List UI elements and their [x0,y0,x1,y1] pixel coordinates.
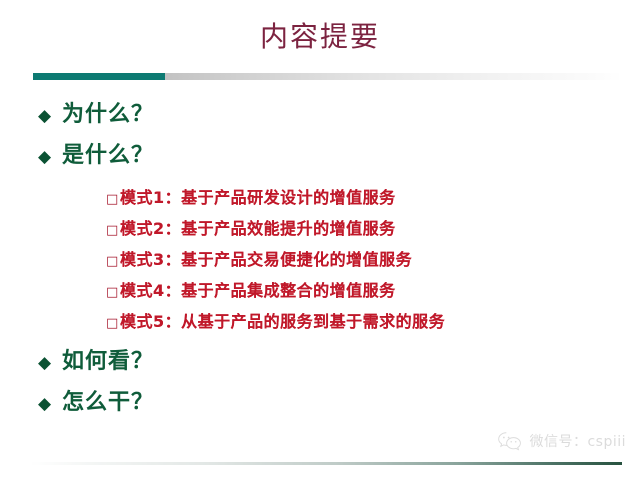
page-title: 内容提要 [0,22,640,53]
diamond-bullet-icon: ◆ [38,149,62,166]
outline-subitem-label: 模式1：基于产品研发设计的增值服务 [120,184,396,208]
outline-subitem[interactable]: □ 模式5：从基于产品的服务到基于需求的服务 [0,308,640,339]
outline-subitem[interactable]: □ 模式1：基于产品研发设计的增值服务 [0,184,640,215]
outline-item-label: 是什么？ [62,137,154,169]
outline-subitem[interactable]: □ 模式3：基于产品交易便捷化的增值服务 [0,246,640,277]
outline-subitem-label: 模式4：基于产品集成整合的增值服务 [120,277,396,301]
outline-subitem-label: 模式3：基于产品交易便捷化的增值服务 [120,246,412,270]
outline-item-why[interactable]: ◆ 为什么？ [0,96,640,137]
outline-subitem[interactable]: □ 模式2：基于产品效能提升的增值服务 [0,215,640,246]
outline-item-label: 如何看？ [62,343,154,375]
square-bullet-icon: □ [106,224,120,237]
square-bullet-icon: □ [106,317,120,330]
slide-canvas: 内容提要 ◆ 为什么？ ◆ 是什么？ □ 模式1：基于产品研发设计的增值服务 □… [0,0,640,480]
title-divider [33,73,622,80]
bottom-divider [30,462,622,465]
watermark: 微信号：cspiii [497,431,626,451]
square-bullet-icon: □ [106,193,120,206]
outline-item-label: 怎么干？ [62,384,154,416]
wechat-icon [497,431,523,451]
outline-sublist: □ 模式1：基于产品研发设计的增值服务 □ 模式2：基于产品效能提升的增值服务 … [0,178,640,343]
diamond-bullet-icon: ◆ [38,108,62,125]
outline-item-how-to-view[interactable]: ◆ 如何看？ [0,343,640,384]
outline-list: ◆ 为什么？ ◆ 是什么？ □ 模式1：基于产品研发设计的增值服务 □ 模式2：… [0,96,640,425]
diamond-bullet-icon: ◆ [38,355,62,372]
title-area: 内容提要 [0,22,640,53]
outline-subitem[interactable]: □ 模式4：基于产品集成整合的增值服务 [0,277,640,308]
outline-subitem-label: 模式2：基于产品效能提升的增值服务 [120,215,396,239]
watermark-label: 微信号：cspiii [529,431,626,451]
square-bullet-icon: □ [106,255,120,268]
square-bullet-icon: □ [106,286,120,299]
outline-item-label: 为什么？ [62,96,154,128]
diamond-bullet-icon: ◆ [38,396,62,413]
outline-subitem-label: 模式5：从基于产品的服务到基于需求的服务 [120,308,445,332]
outline-item-what[interactable]: ◆ 是什么？ [0,137,640,178]
outline-item-how-to-do[interactable]: ◆ 怎么干？ [0,384,640,425]
